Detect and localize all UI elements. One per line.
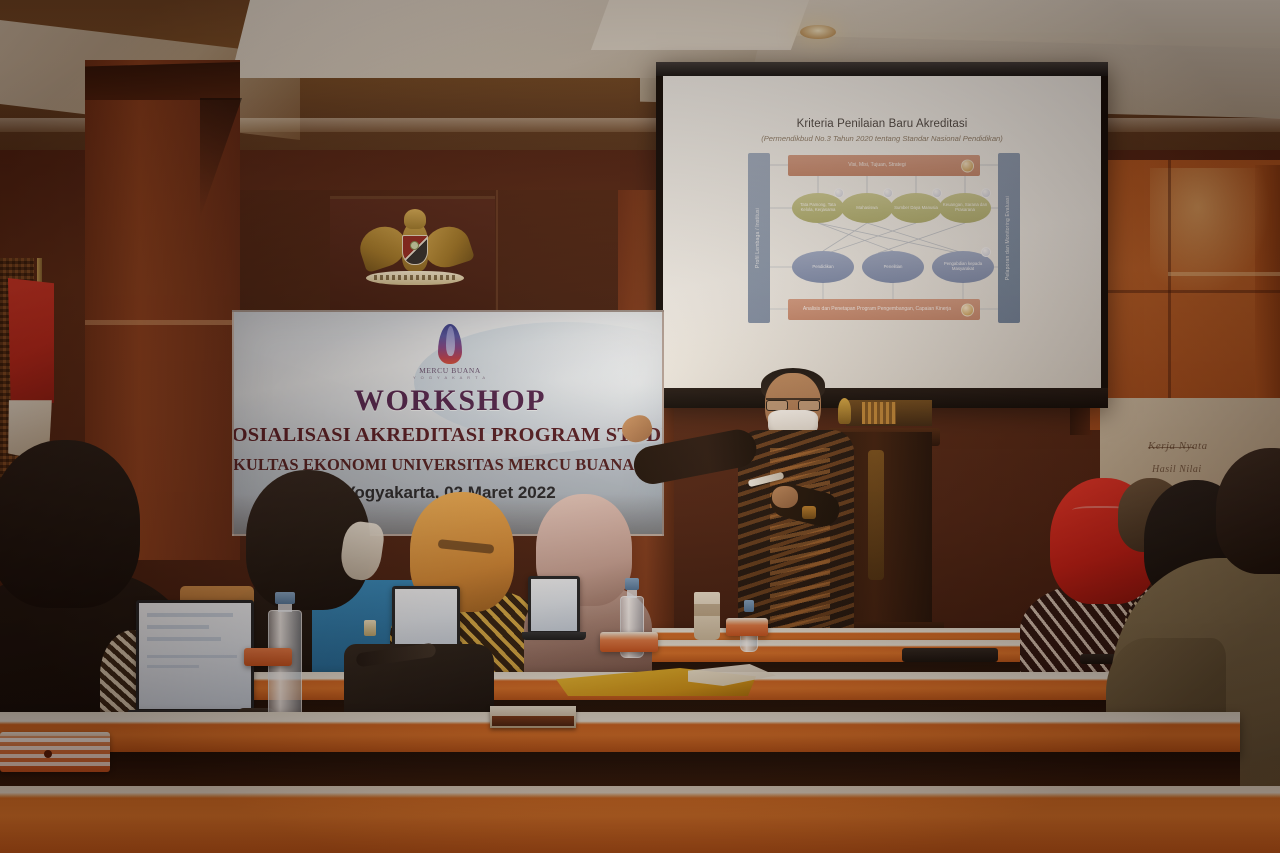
tissue-box (244, 648, 292, 666)
diagram-marker-icon (932, 188, 942, 198)
laptop-screen (136, 600, 254, 712)
desk-row-4 (0, 712, 1240, 754)
diagram-node-blue: Pendidikan (792, 251, 854, 283)
bottle-cap (625, 578, 638, 590)
banner-heading: WORKSHOP (234, 384, 664, 418)
wristwatch-icon (802, 506, 816, 519)
laptop-ui-line (147, 665, 199, 668)
logo-wordmark: MERCU BUANA (402, 366, 498, 375)
laptop-ui-line (147, 655, 237, 658)
indonesian-flag-red-icon (8, 278, 54, 408)
panel-seam-horizontal (1090, 290, 1280, 293)
diagram-left-column: Profil Lembaga / Institusi (748, 153, 770, 323)
head (1216, 448, 1280, 574)
diagram-bottom-bar-label: Analisis dan Penetapan Program Pengemban… (803, 307, 951, 313)
desk-row-5-foreground (0, 786, 1280, 853)
diagram-bottom-bar: Analisis dan Penetapan Program Pengemban… (788, 299, 980, 320)
phone-device (902, 648, 998, 662)
diagram-right-column: Pelaporan dan Monitoring Evaluasi (998, 153, 1020, 323)
motto-text-glyphs (374, 275, 456, 280)
slide-subtitle: (Permendikbud No.3 Tahun 2020 tentang St… (670, 134, 1094, 143)
diagram-top-badge-icon (961, 159, 974, 172)
laptop-ui-line (147, 613, 233, 617)
pillar-band (85, 320, 240, 325)
diagram-connector-lines (748, 153, 1020, 323)
presenter-hand-holding (772, 486, 798, 508)
desk-row-4-front (0, 752, 1240, 788)
diagram-top-bar: Visi, Misi, Tujuan, Strategi (788, 155, 980, 176)
mercu-buana-logo: MERCU BUANA Y O G Y A K A R T A (402, 324, 498, 380)
panel-highlight-rail (1168, 272, 1280, 276)
presentation-slide: Kriteria Penilaian Baru Akreditasi (Perm… (670, 86, 1094, 376)
tissue-box-hole-icon (44, 750, 52, 758)
diagram-left-column-label: Profil Lembaga / Institusi (754, 206, 764, 270)
paper-cup-band (694, 604, 720, 616)
tissue-box-stripes (0, 736, 110, 766)
seminar-room-photo: Kerja Nyata Hasil Nilai Nilai Akhir Krit… (0, 0, 1280, 853)
wall-panel-right (496, 190, 618, 320)
garuda-pancasila-icon (360, 205, 470, 310)
presenter-hand-pointing (619, 412, 656, 446)
garuda-head-icon (404, 209, 426, 229)
recessed-ceiling-light-icon (800, 25, 836, 39)
laptop-base (522, 632, 586, 640)
laptop-screen (528, 576, 580, 634)
tissue-box (726, 618, 768, 636)
diagram-right-column-label: Pelaporan dan Monitoring Evaluasi (1004, 194, 1014, 282)
panel-seam-vertical (1168, 160, 1171, 430)
paper-cup (694, 592, 720, 640)
laptop-ui-line (147, 625, 209, 629)
diagram-node-blue: Penelitian (862, 251, 924, 283)
name-badge (364, 620, 376, 636)
accreditation-criteria-diagram: Profil Lembaga / Institusi Pelaporan dan… (748, 153, 1020, 323)
tissue-box (600, 632, 658, 652)
head-black-hijab (0, 440, 140, 608)
laptop-ui-line (147, 637, 221, 641)
notebook-cover (492, 716, 574, 726)
glasses-icon (766, 398, 820, 409)
ceiling-light-slot (591, 0, 809, 50)
bottle-cap (275, 592, 294, 604)
diagram-top-bar-label: Visi, Misi, Tujuan, Strategi (848, 163, 905, 169)
diagram-marker-icon (981, 188, 991, 198)
bottle-cap (744, 600, 754, 612)
bottle-body (268, 610, 302, 722)
left-pillar-cap (85, 62, 240, 100)
projector-screen-roller (656, 62, 1108, 76)
slide-title: Kriteria Penilaian Baru Akreditasi (670, 118, 1094, 130)
diagram-bottom-badge-icon (961, 303, 974, 316)
diagram-marker-icon (834, 188, 844, 198)
pancasila-shield-icon (402, 235, 428, 265)
banner-line-2: SOSIALISASI AKREDITASI PROGRAM STUDI - L… (232, 424, 664, 447)
logo-subtitle: Y O G Y A K A R T A (402, 375, 498, 380)
diagram-marker-icon (981, 247, 991, 257)
diagram-marker-icon (883, 188, 893, 198)
shield-star-icon (410, 241, 419, 250)
